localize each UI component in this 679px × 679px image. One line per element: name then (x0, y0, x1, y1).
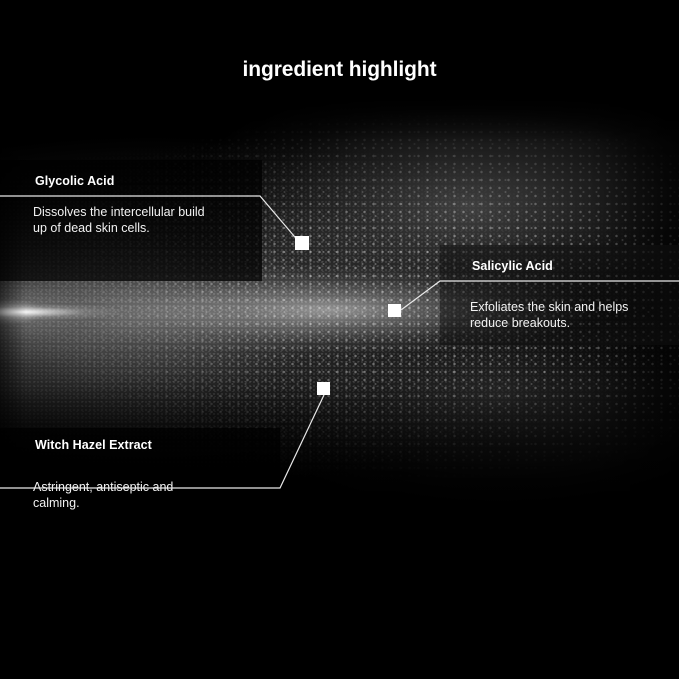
callout-title-witch-hazel-extract: Witch Hazel Extract (35, 438, 152, 452)
page-title: ingredient highlight (0, 58, 679, 82)
callout-title-salicylic-acid: Salicylic Acid (472, 259, 553, 273)
callout-title-glycolic-acid: Glycolic Acid (35, 174, 114, 188)
callout-body-glycolic-acid: Dissolves the intercellular build up of … (33, 204, 263, 236)
infographic-canvas: ingredient highlight Glycolic Acid Disso… (0, 0, 679, 679)
callout-body-witch-hazel-extract: Astringent, antiseptic and calming. (33, 479, 263, 511)
callout-body-salicylic-acid: Exfoliates the skin and helps reduce bre… (470, 299, 675, 331)
